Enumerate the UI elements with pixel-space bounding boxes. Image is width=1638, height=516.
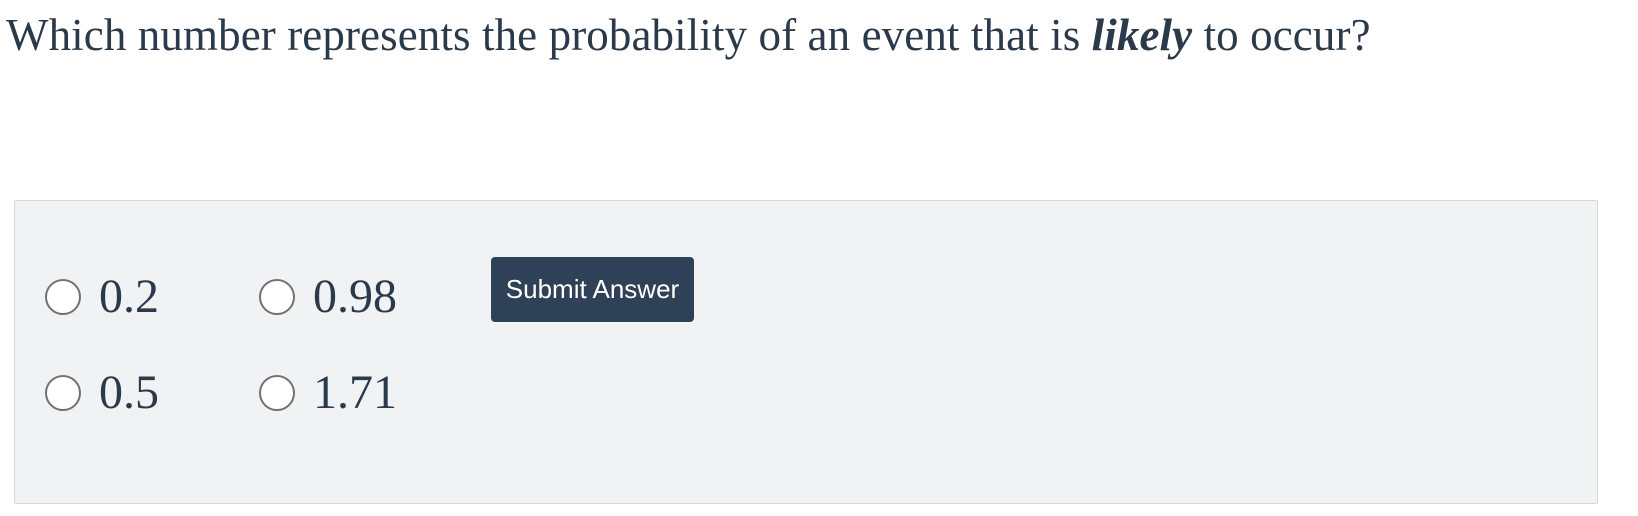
answer-panel: 0.2 0.98 0.5 1.71 Submit Answer (14, 200, 1598, 504)
radio-button-icon[interactable] (45, 375, 81, 411)
radio-button-icon[interactable] (259, 375, 295, 411)
radio-button-icon[interactable] (45, 279, 81, 315)
question-text-prefix: Which number represents the probability … (6, 10, 1092, 60)
option-row-1-col-0[interactable]: 0.5 (45, 345, 159, 441)
option-label: 0.98 (313, 273, 397, 321)
option-label: 0.2 (99, 273, 159, 321)
option-row-0-col-1[interactable]: 0.98 (259, 249, 397, 345)
option-label: 0.5 (99, 369, 159, 417)
option-row-1-col-1[interactable]: 1.71 (259, 345, 397, 441)
option-row-0-col-0[interactable]: 0.2 (45, 249, 159, 345)
option-label: 1.71 (313, 369, 397, 417)
question-emphasis-likely: likely (1092, 10, 1193, 60)
question-text-suffix: to occur? (1192, 10, 1370, 60)
question-prompt: Which number represents the probability … (6, 4, 1606, 66)
radio-button-icon[interactable] (259, 279, 295, 315)
options-grid: 0.2 0.98 0.5 1.71 (45, 249, 473, 441)
submit-answer-button[interactable]: Submit Answer (491, 257, 694, 322)
question-page: Which number represents the probability … (0, 0, 1638, 516)
